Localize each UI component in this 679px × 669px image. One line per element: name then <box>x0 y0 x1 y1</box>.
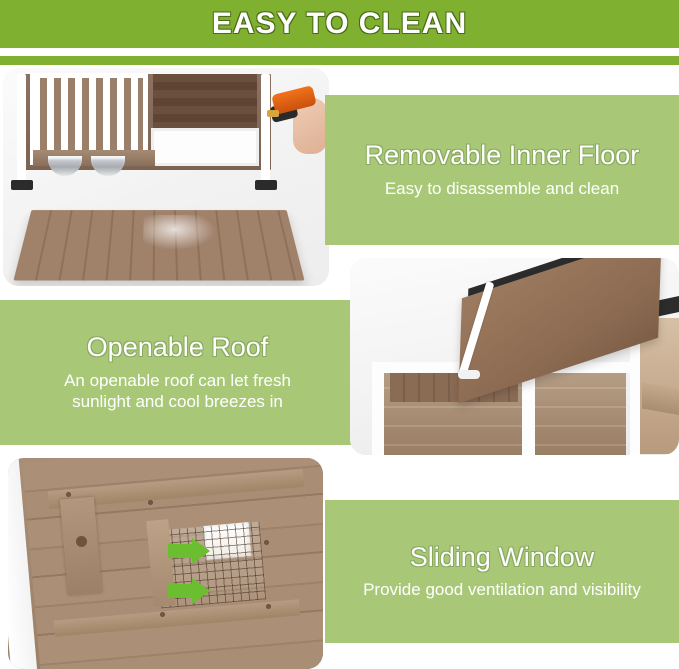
photo-openable-roof <box>350 258 679 455</box>
feature-subtitle-sliding-window: Provide good ventilation and visibility <box>363 579 641 600</box>
door-knob-icon <box>76 536 87 547</box>
text-panel-sliding-window: Sliding Window Provide good ventilation … <box>325 500 679 643</box>
screw-icon <box>264 540 269 545</box>
text-panel-openable-roof: Openable Roof An openable roof can let f… <box>0 300 355 445</box>
hand-holding-nozzle <box>271 84 329 158</box>
feature-subtitle-removable-inner-floor: Easy to disassemble and clean <box>385 178 619 199</box>
screw-icon <box>66 492 71 497</box>
header-banner: EASY TO CLEAN <box>0 0 679 48</box>
text-panel-removable-inner-floor: Removable Inner Floor Easy to disassembl… <box>325 95 679 245</box>
house-leg-left <box>17 74 26 184</box>
screw-icon <box>160 612 165 617</box>
nozzle-tip-icon <box>267 110 279 117</box>
removable-inner-floor-board <box>13 210 304 280</box>
house-foot-left <box>11 180 33 190</box>
feature-title-openable-roof: Openable Roof <box>87 333 269 363</box>
page-title: EASY TO CLEAN <box>212 7 467 41</box>
feature-subtitle-openable-roof-line1: An openable roof can let fresh <box>64 370 291 391</box>
strut-mounting-plate <box>458 370 480 379</box>
box-left-post <box>372 362 384 455</box>
photo-removable-inner-floor <box>3 68 329 286</box>
photo-sliding-window <box>8 458 323 669</box>
feature-title-sliding-window: Sliding Window <box>410 543 595 573</box>
feature-subtitle-openable-roof-line2: sunlight and cool breezes in <box>72 391 283 412</box>
header-accent-rule <box>0 56 679 65</box>
water-splash-icon <box>143 215 225 253</box>
feature-title-removable-inner-floor: Removable Inner Floor <box>365 141 640 171</box>
screw-icon <box>266 604 271 609</box>
screw-icon <box>148 500 153 505</box>
